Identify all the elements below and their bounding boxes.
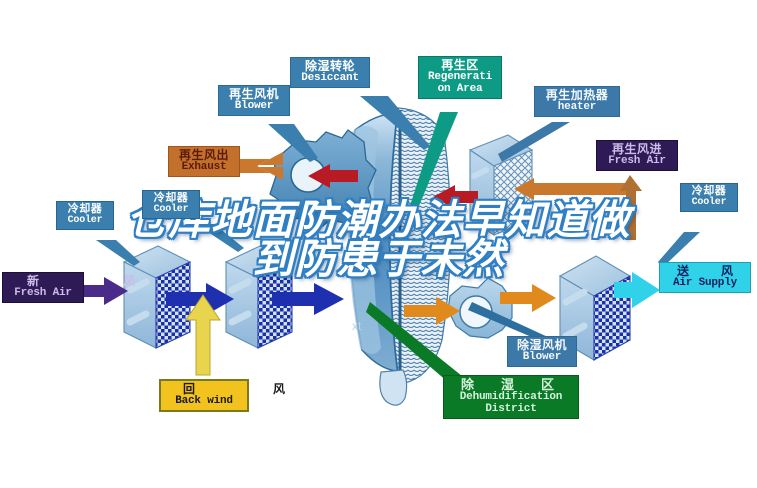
label-air-supply-cn: 送 风 [664,265,746,278]
label-regeneration-blower-cn: 再生风机 [223,88,285,101]
label-regeneration-fresh-air-en: Fresh Air [601,156,673,168]
label-regeneration-fresh-air-cn: 再生风进 [601,143,673,156]
label-regeneration-exhaust-en: Exhaust [173,162,235,174]
label-regeneration-area-cn: 再生区 [423,59,497,72]
label-fresh-air-inlet-en: Fresh Air [7,288,79,300]
label-cooler-right[interactable]: 冷却器 Cooler [680,183,738,212]
label-regeneration-blower[interactable]: 再生风机 Blower [218,85,290,116]
label-back-wind-cn: 回 风 [165,383,243,396]
label-dehumidification-district-en-2: District [448,404,574,416]
schematic-graphics: xt [0,0,757,488]
label-regeneration-fresh-air[interactable]: 再生风进 Fresh Air [596,140,678,171]
label-regeneration-heater-cn: 再生加热器 [539,89,615,102]
label-dehumidification-district[interactable]: 除 湿 区 Dehumidification District [443,375,579,419]
label-desiccant-wheel-en: Desiccant [295,73,365,85]
label-cooler-left-2-en: Cooler [147,205,195,216]
regen-intake-arrow [514,178,636,200]
label-regeneration-heater[interactable]: 再生加热器 heater [534,86,620,117]
label-dehumidification-district-cn: 除 湿 区 [448,378,574,392]
label-desiccant-wheel[interactable]: 除湿转轮 Desiccant [290,57,370,88]
label-fresh-air-inlet[interactable]: 新 风 Fresh Air [2,272,84,303]
label-cooler-left-2[interactable]: 冷却器 Cooler [142,190,200,219]
label-regeneration-area[interactable]: 再生区 Regenerati on Area [418,56,502,99]
label-cooler-right-en: Cooler [685,198,733,209]
label-regeneration-heater-en: heater [539,102,615,114]
label-back-wind-en: Back wind [165,396,243,408]
label-air-supply-en: Air Supply [664,278,746,290]
label-back-wind[interactable]: 回 风 Back wind [159,379,249,412]
label-regeneration-blower-en: Blower [223,101,285,113]
label-dehumidification-blower[interactable]: 除湿风机 Blower [507,336,577,367]
diagram-canvas: xt [0,0,757,488]
label-fresh-air-inlet-cn: 新 风 [7,275,79,288]
label-regeneration-exhaust-cn: 再生风出 [173,149,235,162]
label-air-supply[interactable]: 送 风 Air Supply [659,262,751,293]
label-cooler-left-1-en: Cooler [61,216,109,227]
label-dehumidification-blower-en: Blower [512,352,572,364]
label-regeneration-exhaust[interactable]: 再生风出 Exhaust [168,146,240,177]
watermark-text: xt [352,319,362,333]
label-desiccant-wheel-cn: 除湿转轮 [295,60,365,73]
label-dehumidification-blower-cn: 除湿风机 [512,339,572,352]
label-cooler-left-1[interactable]: 冷却器 Cooler [56,201,114,230]
label-regeneration-area-en-2: on Area [423,84,497,96]
